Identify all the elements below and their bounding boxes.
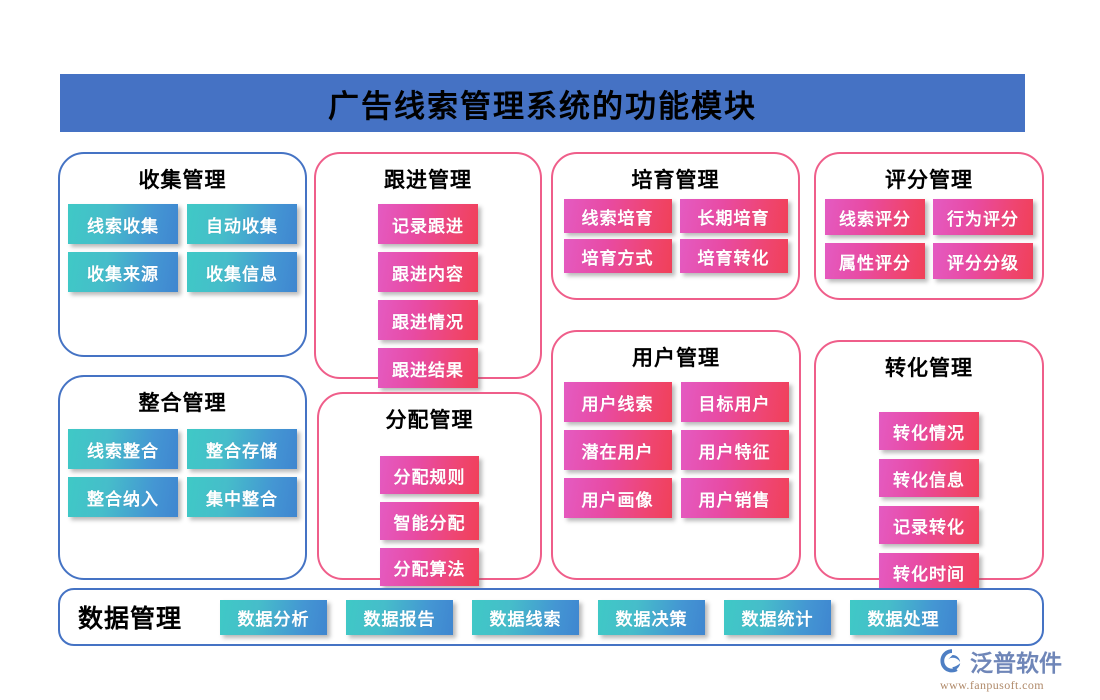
chip-item[interactable]: 数据决策 <box>598 600 705 635</box>
chip-item[interactable]: 跟进情况 <box>378 300 478 340</box>
logo-url: www.fanpusoft.com <box>940 678 1044 693</box>
slide-canvas: 广告线索管理系统的功能模块 收集管理 线索收集 自动收集 收集来源 收集信息 跟… <box>0 0 1100 700</box>
chip-item[interactable]: 数据处理 <box>850 600 957 635</box>
chip-item[interactable]: 跟进结果 <box>378 348 478 388</box>
brand-logo: 泛普软件 www.fanpusoft.com <box>938 644 1088 692</box>
chip-item[interactable]: 整合纳入 <box>68 477 178 517</box>
chip-item[interactable]: 智能分配 <box>380 502 479 540</box>
chip-item[interactable]: 行为评分 <box>933 199 1033 235</box>
data-bar-title: 数据管理 <box>78 599 182 635</box>
chip-item[interactable]: 转化时间 <box>879 553 979 591</box>
card-score-management[interactable]: 评分管理 线索评分 行为评分 属性评分 评分分级 <box>814 152 1044 300</box>
card-assign-management[interactable]: 分配管理 分配规则 智能分配 分配算法 分配处理 <box>317 392 542 580</box>
card-title: 跟进管理 <box>316 164 540 194</box>
title-banner: 广告线索管理系统的功能模块 <box>60 74 1025 132</box>
chip-item[interactable]: 收集信息 <box>187 252 297 292</box>
chip-item[interactable]: 线索评分 <box>825 199 925 235</box>
chip-group: 转化情况 转化信息 记录转化 转化时间 <box>816 412 1042 591</box>
chip-group: 线索整合 整合存储 整合纳入 集中整合 <box>60 429 305 517</box>
card-title: 整合管理 <box>60 387 305 417</box>
logo-row: 泛普软件 <box>938 644 1062 678</box>
chip-item[interactable]: 属性评分 <box>825 243 925 279</box>
card-nurture-management[interactable]: 培育管理 线索培育 长期培育 培育方式 培育转化 <box>551 152 800 300</box>
card-title: 转化管理 <box>816 352 1042 382</box>
chip-group: 线索评分 行为评分 属性评分 评分分级 <box>816 199 1042 279</box>
chip-item[interactable]: 跟进内容 <box>378 252 478 292</box>
chip-item[interactable]: 潜在用户 <box>564 430 672 470</box>
fanpu-swoosh-icon <box>938 647 966 675</box>
chip-group: 用户线索 目标用户 潜在用户 用户特征 用户画像 用户销售 <box>553 382 799 518</box>
chip-item[interactable]: 收集来源 <box>68 252 178 292</box>
card-title: 收集管理 <box>60 164 305 194</box>
chip-item[interactable]: 线索收集 <box>68 204 178 244</box>
card-follow-management[interactable]: 跟进管理 记录跟进 跟进内容 跟进情况 跟进结果 跟进时间 线索跟进 <box>314 152 542 379</box>
chip-item[interactable]: 分配规则 <box>380 456 479 494</box>
chip-item[interactable]: 数据线索 <box>472 600 579 635</box>
card-integrate-management[interactable]: 整合管理 线索整合 整合存储 整合纳入 集中整合 <box>58 375 307 580</box>
chip-item[interactable]: 用户特征 <box>681 430 789 470</box>
card-user-management[interactable]: 用户管理 用户线索 目标用户 潜在用户 用户特征 用户画像 用户销售 <box>551 330 801 580</box>
chip-item[interactable]: 培育转化 <box>680 239 788 273</box>
chip-item[interactable]: 分配算法 <box>380 548 479 586</box>
chip-item[interactable]: 转化信息 <box>879 459 979 497</box>
chip-item[interactable]: 用户线索 <box>564 382 672 422</box>
chip-item[interactable]: 线索培育 <box>564 199 672 233</box>
chip-item[interactable]: 用户画像 <box>564 478 672 518</box>
card-title: 分配管理 <box>319 404 540 434</box>
card-title: 评分管理 <box>816 164 1042 194</box>
chip-item[interactable]: 记录转化 <box>879 506 979 544</box>
chip-group: 线索收集 自动收集 收集来源 收集信息 <box>60 204 305 292</box>
chip-item[interactable]: 记录跟进 <box>378 204 478 244</box>
chip-group: 数据分析 数据报告 数据线索 数据决策 数据统计 数据处理 <box>220 600 957 635</box>
chip-item[interactable]: 评分分级 <box>933 243 1033 279</box>
logo-name: 泛普软件 <box>970 644 1062 678</box>
chip-item[interactable]: 转化情况 <box>879 412 979 450</box>
chip-item[interactable]: 培育方式 <box>564 239 672 273</box>
card-convert-management[interactable]: 转化管理 转化情况 转化信息 记录转化 转化时间 <box>814 340 1044 580</box>
chip-item[interactable]: 集中整合 <box>187 477 297 517</box>
page-title: 广告线索管理系统的功能模块 <box>328 81 757 126</box>
card-data-management[interactable]: 数据管理 数据分析 数据报告 数据线索 数据决策 数据统计 数据处理 <box>58 588 1044 646</box>
chip-item[interactable]: 用户销售 <box>681 478 789 518</box>
card-collect-management[interactable]: 收集管理 线索收集 自动收集 收集来源 收集信息 <box>58 152 307 357</box>
card-title: 用户管理 <box>553 342 799 372</box>
chip-item[interactable]: 线索整合 <box>68 429 178 469</box>
chip-group: 线索培育 长期培育 培育方式 培育转化 <box>553 199 798 273</box>
chip-item[interactable]: 整合存储 <box>187 429 297 469</box>
card-title: 培育管理 <box>553 164 798 194</box>
chip-item[interactable]: 数据分析 <box>220 600 327 635</box>
chip-item[interactable]: 自动收集 <box>187 204 297 244</box>
chip-item[interactable]: 数据统计 <box>724 600 831 635</box>
chip-item[interactable]: 数据报告 <box>346 600 453 635</box>
chip-item[interactable]: 长期培育 <box>680 199 788 233</box>
chip-item[interactable]: 目标用户 <box>681 382 789 422</box>
